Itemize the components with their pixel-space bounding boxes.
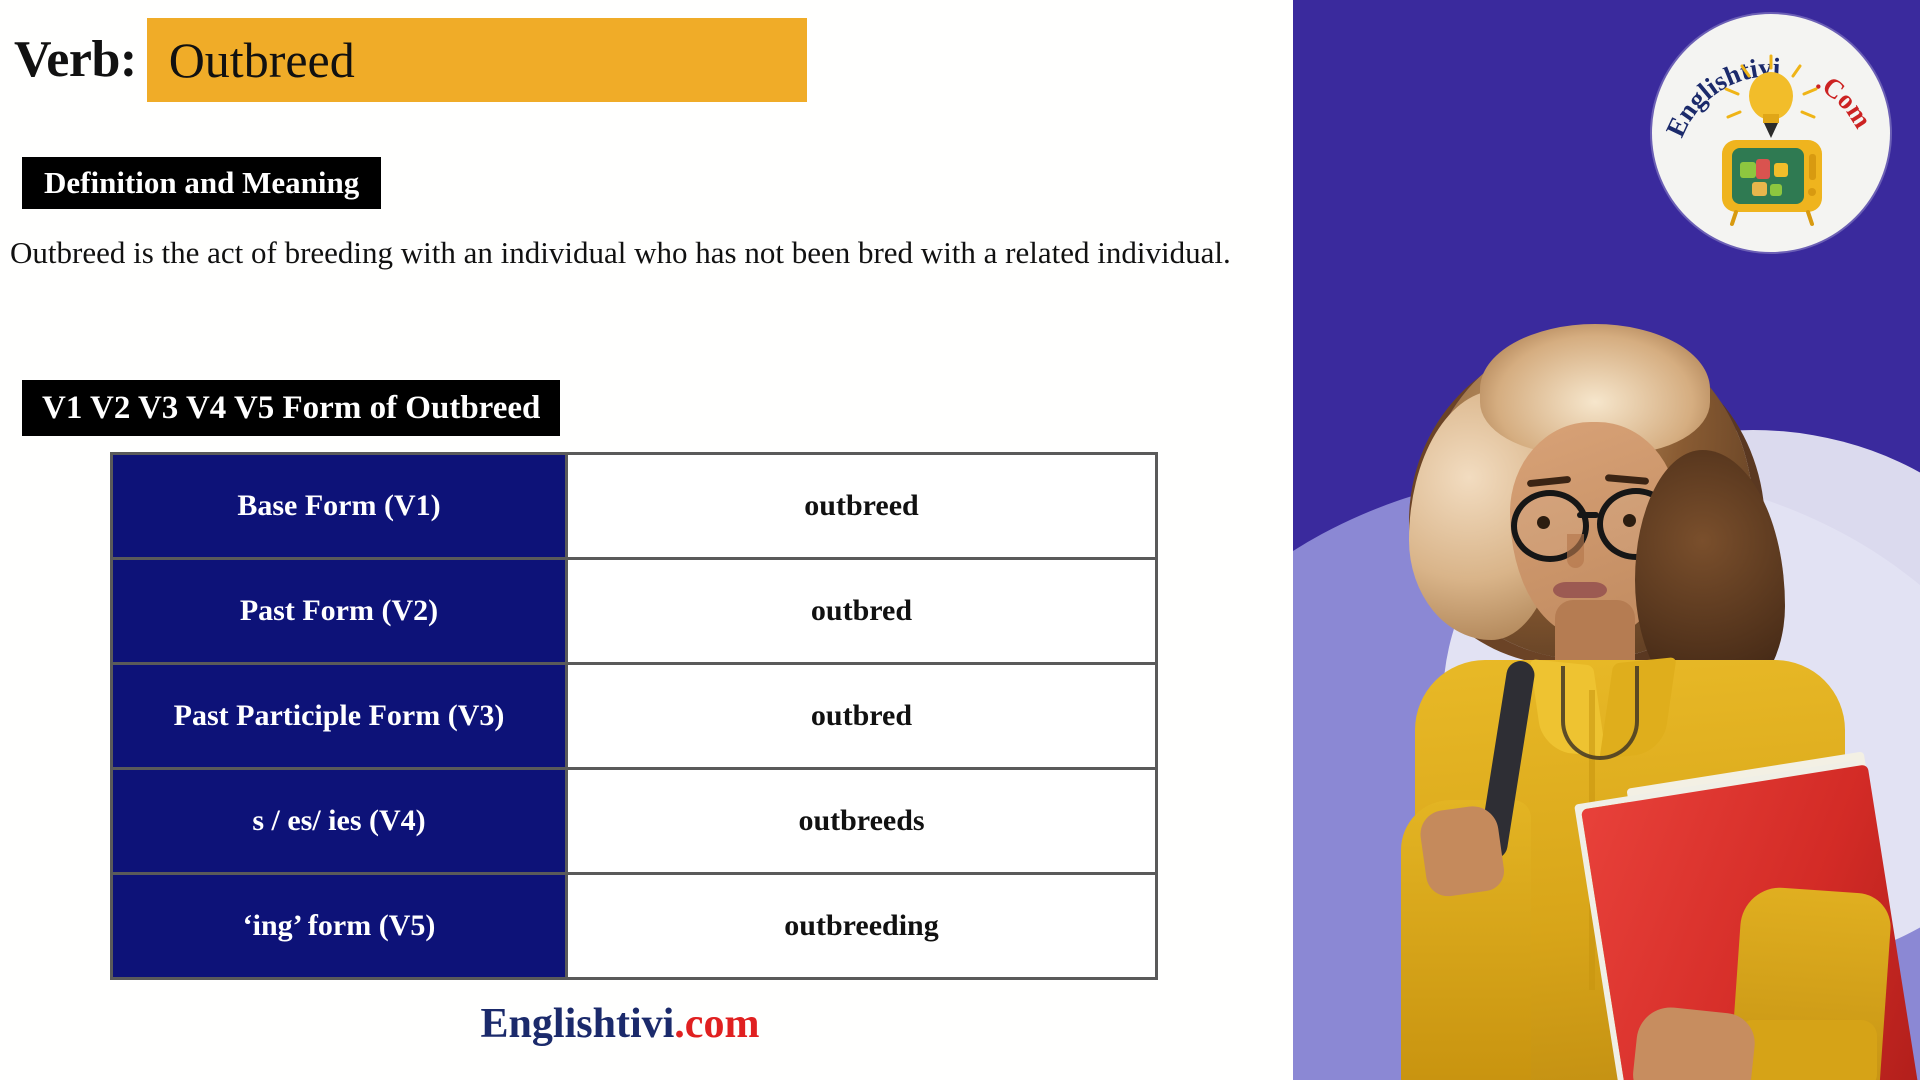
form-value: outbreeds [567, 769, 1157, 874]
student-photo [1305, 330, 1905, 1080]
eyeglass-bridge [1577, 512, 1599, 518]
hand-right [1630, 1004, 1757, 1080]
verb-highlight-box: Outbreed [147, 18, 807, 102]
logo-text-tld: .Com [1812, 66, 1879, 134]
form-label: Past Form (V2) [112, 559, 567, 664]
table-row: ‘ing’ form (V5) outbreeding [112, 874, 1157, 979]
eye-left [1537, 516, 1550, 529]
table-row: Past Form (V2) outbred [112, 559, 1157, 664]
form-label: s / es/ ies (V4) [112, 769, 567, 874]
table-row: Past Participle Form (V3) outbred [112, 664, 1157, 769]
forms-section-chip: V1 V2 V3 V4 V5 Form of Outbreed [22, 380, 560, 436]
form-label: Past Participle Form (V3) [112, 664, 567, 769]
footer-brand-tld: .com [674, 1001, 759, 1047]
form-label: Base Form (V1) [112, 454, 567, 559]
television-icon [1722, 140, 1822, 224]
form-value: outbreeding [567, 874, 1157, 979]
verb-forms-table-body: Base Form (V1) outbreed Past Form (V2) o… [112, 454, 1157, 979]
table-row: Base Form (V1) outbreed [112, 454, 1157, 559]
verb-forms-table: Base Form (V1) outbreed Past Form (V2) o… [110, 452, 1158, 980]
table-row: s / es/ ies (V4) outbreeds [112, 769, 1157, 874]
verb-label: Verb: [14, 34, 147, 86]
hand-left [1417, 803, 1506, 899]
verb-heading: Verb: Outbreed [14, 18, 807, 102]
content-panel: Verb: Outbreed Definition and Meaning Ou… [0, 0, 1293, 1080]
form-value: outbreed [567, 454, 1157, 559]
englishtivi-logo[interactable]: Englishtivi .Com [1652, 14, 1890, 252]
form-label: ‘ing’ form (V5) [112, 874, 567, 979]
blouse-cuff-right [1737, 1020, 1877, 1080]
lips-shape [1553, 582, 1607, 598]
logo-arc-text: Englishtivi .Com [1652, 14, 1890, 252]
footer-brand-name: Englishtivi [481, 1001, 675, 1047]
footer-brand: Englishtivi.com [0, 1000, 1240, 1048]
form-value: outbred [567, 664, 1157, 769]
verb-word: Outbreed [169, 35, 355, 85]
lightbulb-icon [1726, 56, 1816, 138]
form-value: outbred [567, 559, 1157, 664]
eye-right [1623, 514, 1636, 527]
necklace [1561, 666, 1639, 760]
definition-text: Outbreed is the act of breeding with an … [10, 232, 1280, 275]
nose-shape [1567, 534, 1584, 568]
definition-section-chip: Definition and Meaning [22, 157, 381, 209]
